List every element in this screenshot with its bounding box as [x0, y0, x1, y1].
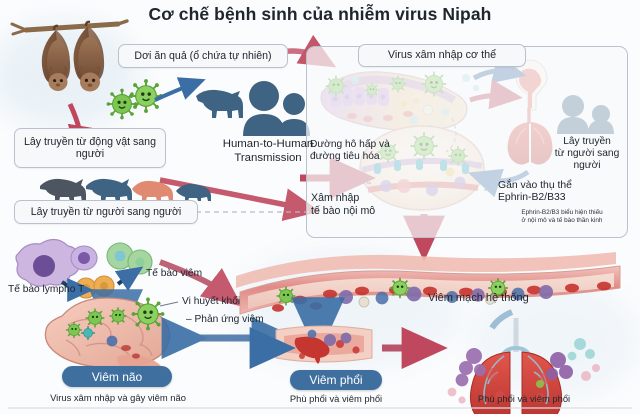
respiratory-gi-label: Đường hô hấp và đường tiêu hóa — [310, 139, 414, 163]
inflammatory-cell-text: Tế bào viêm — [146, 268, 202, 279]
background-wash-left — [0, 20, 140, 130]
human-to-human-text: Lây truyền từ người sang người — [31, 206, 182, 219]
leader-line — [160, 302, 178, 306]
person-to-person-label: Lây truyền từ người sang người — [544, 136, 630, 173]
bat-icon — [12, 21, 127, 92]
bat-reservoir-label[interactable]: Dơi ăn quả (ổ chứa tự nhiên) — [118, 44, 288, 68]
blood-vessel-icon — [276, 326, 372, 364]
virus-particle-icon — [66, 298, 165, 340]
endothelial-invasion-label: Xâm nhập tế bào nội mô — [311, 192, 407, 217]
receptor-line1: Gắn vào thụ thể — [498, 180, 624, 192]
virus-particle-icon — [107, 79, 163, 119]
respiratory-gi-line1: Đường hô hấp và — [310, 139, 414, 151]
t-lymphocyte-text: Tế bào lympho T — [8, 284, 84, 295]
receptor-line2: Ephrin-B2/B33 — [498, 192, 624, 204]
outcome-caption-encephalitis-text: Virus xâm nhập và gây viêm não — [50, 392, 186, 403]
person-to-person-line1: Lây truyền — [544, 136, 630, 148]
animal-to-human-label[interactable]: Lây truyền từ động vật sang người — [14, 128, 166, 168]
outcome-badge-pneumonia-text: Viêm phổi — [309, 373, 362, 387]
systemic-vasculitis-text: Viêm mạch hệ thống — [428, 292, 529, 304]
arrow-icon — [110, 296, 116, 318]
person-to-person-line2: từ người sang — [544, 148, 630, 160]
receptor-note-line2: ở nội mô và tế bào thần kinh — [494, 217, 630, 225]
pig-silhouette-icon — [132, 181, 211, 201]
inflammatory-response-label: – Phản ứng viêm — [186, 314, 264, 326]
systemic-vasculitis-label: Viêm mạch hệ thống — [428, 292, 529, 305]
receptor-note: Ephrin-B2/B3 biểu hiện thiếu ở nội mô và… — [494, 209, 630, 225]
bat-reservoir-text: Dơi ăn quả (ổ chứa tự nhiên) — [134, 50, 271, 63]
cow-silhouette-icon — [196, 90, 243, 118]
outcome-caption-encephalitis: Virus xâm nhập và gây viêm não — [0, 392, 236, 403]
animal-to-human-text: Lây truyền từ động vật sang người — [19, 136, 161, 161]
respiratory-gi-line2: đường tiêu hóa — [310, 151, 414, 163]
inflammatory-response-text: – Phản ứng viêm — [186, 314, 264, 325]
cell-icon — [16, 239, 97, 286]
endothelial-invasion-line2: tế bào nội mô — [311, 205, 407, 218]
receptor-label: Gắn vào thụ thể Ephrin-B2/B33 — [498, 180, 624, 205]
person-to-person-line3: người — [544, 160, 630, 172]
outcome-caption-pneumonia-text: Phù phổi và viêm phổi — [290, 393, 382, 404]
t-lymphocyte-label: Tế bào lympho T — [8, 284, 84, 296]
cow-silhouette-icon — [40, 179, 132, 202]
outcome-badge-encephalitis-text: Viêm não — [92, 370, 142, 384]
outcome-badge-encephalitis[interactable]: Viêm não — [62, 366, 172, 387]
inflammatory-cell-label: Tế bào viêm — [146, 268, 202, 280]
microthrombi-label: Vi huyết khối — [182, 296, 240, 308]
brain-icon — [45, 298, 169, 376]
arrow-icon — [155, 84, 193, 100]
outcome-caption-lung-edema-text: Phù phổi và viêm phổi — [478, 393, 570, 404]
people-silhouette-icon — [243, 81, 310, 136]
background-wash-mid — [230, 250, 460, 370]
outcome-badge-pneumonia[interactable]: Viêm phổi — [290, 370, 382, 390]
receptor-note-line1: Ephrin-B2/B3 biểu hiện thiếu — [494, 209, 630, 217]
microthrombi-text: Vi huyết khối — [182, 296, 240, 307]
outcome-caption-lung-edema: Phù phổi và viêm phổi — [444, 393, 604, 404]
infographic-canvas: Cơ chế bệnh sinh của nhiễm virus Nipah — [0, 0, 640, 414]
arrow-icon — [492, 312, 512, 328]
outcome-caption-pneumonia: Phù phổi và viêm phổi — [258, 393, 414, 404]
endothelial-invasion-line1: Xâm nhập — [311, 192, 407, 205]
virus-entry-title-text: Virus xâm nhập cơ thể — [388, 49, 496, 62]
human-to-human-label[interactable]: Lây truyền từ người sang người — [14, 200, 198, 224]
page-title: Cơ chế bệnh sinh của nhiễm virus Nipah — [0, 4, 640, 25]
arrow-icon — [118, 274, 132, 284]
virus-entry-title[interactable]: Virus xâm nhập cơ thể — [358, 44, 526, 67]
